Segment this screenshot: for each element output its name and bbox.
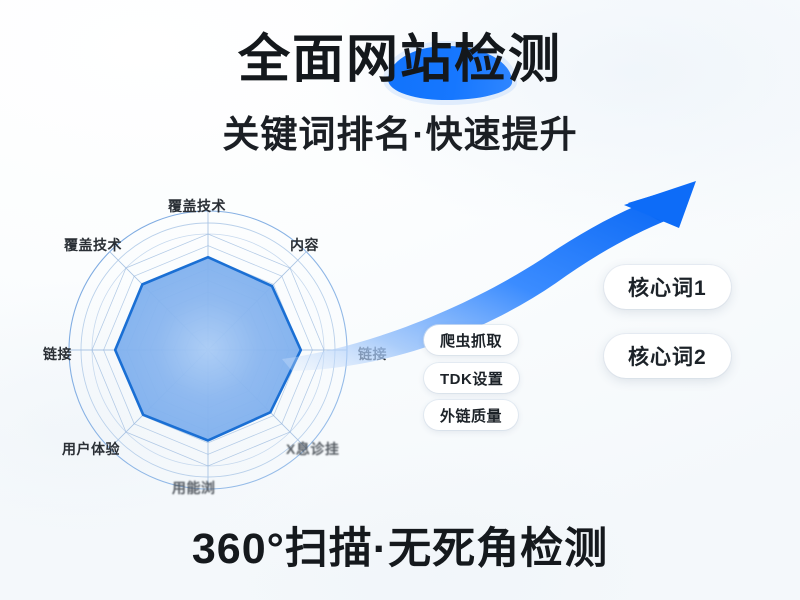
radar-axis-label-1: 内容 bbox=[290, 235, 319, 255]
badge-backlink-quality[interactable]: 外链质量 bbox=[424, 400, 518, 430]
radar-axis-label-6: 覆盖技术 bbox=[64, 235, 122, 255]
bottom-tagline: 360°扫描·无死角检测 bbox=[0, 528, 800, 571]
title-segment-highlight: 网站 bbox=[346, 31, 454, 89]
badge-tdk[interactable]: TDK设置 bbox=[424, 363, 519, 393]
title-block: 全面网站检测 bbox=[0, 34, 800, 86]
radar-chart: 覆盖技术 内容 链接 X息诊挂 用能浏 用户体验 覆盖技术 链接 bbox=[28, 190, 428, 520]
title-segment-2: 检测 bbox=[454, 31, 562, 89]
radar-axis-label-0: 覆盖技术 bbox=[168, 196, 226, 216]
badge-keyword-2[interactable]: 核心词2 bbox=[604, 334, 731, 378]
arrow-head bbox=[628, 183, 694, 222]
arrow-head-solid bbox=[624, 181, 696, 228]
badge-keyword-1[interactable]: 核心词1 bbox=[604, 265, 731, 309]
radar-axis-label-4: 用能浏 bbox=[172, 478, 216, 498]
radar-axis-label-7: 链接 bbox=[43, 344, 72, 364]
radar-axis-label-3: X息诊挂 bbox=[286, 439, 339, 459]
page-title: 全面网站检测 bbox=[238, 34, 562, 86]
badge-crawl[interactable]: 爬虫抓取 bbox=[424, 325, 518, 355]
radar-axis-label-2: 链接 bbox=[358, 344, 387, 364]
radar-axis-label-5: 用户体验 bbox=[62, 439, 120, 459]
page-subtitle: 关键词排名·快速提升 bbox=[0, 116, 800, 153]
title-segment-1: 全面 bbox=[238, 31, 346, 89]
poster-canvas: 全面网站检测 关键词排名·快速提升 bbox=[0, 0, 800, 600]
